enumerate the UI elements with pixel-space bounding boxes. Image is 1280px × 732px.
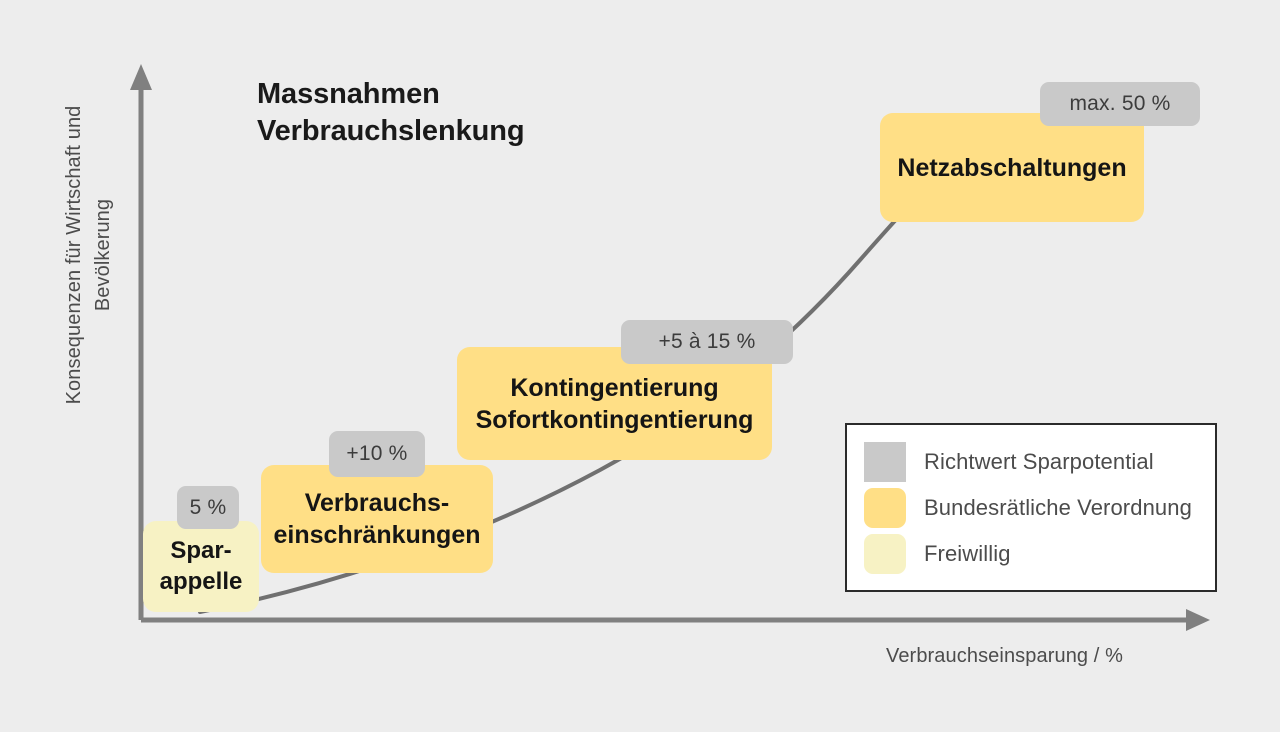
badge-verbrauchseinschraenkungen: +10 % <box>329 431 425 477</box>
legend-swatch-ordinance-icon <box>864 488 906 528</box>
page-title-line-2: Verbrauchslenkung <box>257 113 524 150</box>
badge-sparappelle: 5 % <box>177 486 239 529</box>
measure-label-kontingentierung: KontingentierungSofortkontingentierung <box>476 372 754 436</box>
legend-row-freiwillig: Freiwillig <box>864 531 1215 577</box>
measure-box-netzabschaltungen[interactable]: Netzabschaltungen <box>880 113 1144 222</box>
legend-label-freiwillig: Freiwillig <box>924 541 1011 567</box>
badge-kontingentierung: +5 à 15 % <box>621 320 793 364</box>
badge-netzabschaltungen: max. 50 % <box>1040 82 1200 126</box>
measure-label-sparappelle: Spar-appelle <box>160 536 243 597</box>
page-title-line-1: Massnahmen <box>257 76 524 113</box>
legend: Richtwert Sparpotential Bundesrätliche V… <box>845 423 1217 592</box>
measure-box-sparappelle[interactable]: Spar-appelle <box>143 521 259 612</box>
measure-box-verbrauchseinschraenkungen[interactable]: Verbrauchs-einschränkungen <box>261 465 493 573</box>
page-title: Massnahmen Verbrauchslenkung <box>257 76 524 151</box>
measure-label-netzabschaltungen: Netzabschaltungen <box>897 152 1126 184</box>
legend-row-richtwert: Richtwert Sparpotential <box>864 439 1215 485</box>
legend-label-richtwert: Richtwert Sparpotential <box>924 449 1154 475</box>
infographic-canvas: Massnahmen Verbrauchslenkung Konsequenze… <box>0 0 1280 732</box>
legend-label-verordnung: Bundesrätliche Verordnung <box>924 495 1192 521</box>
legend-swatch-voluntary-icon <box>864 534 906 574</box>
legend-row-verordnung: Bundesrätliche Verordnung <box>864 485 1215 531</box>
measure-label-verbrauchseinschraenkungen: Verbrauchs-einschränkungen <box>274 487 481 551</box>
legend-swatch-grey-square-icon <box>864 442 906 482</box>
